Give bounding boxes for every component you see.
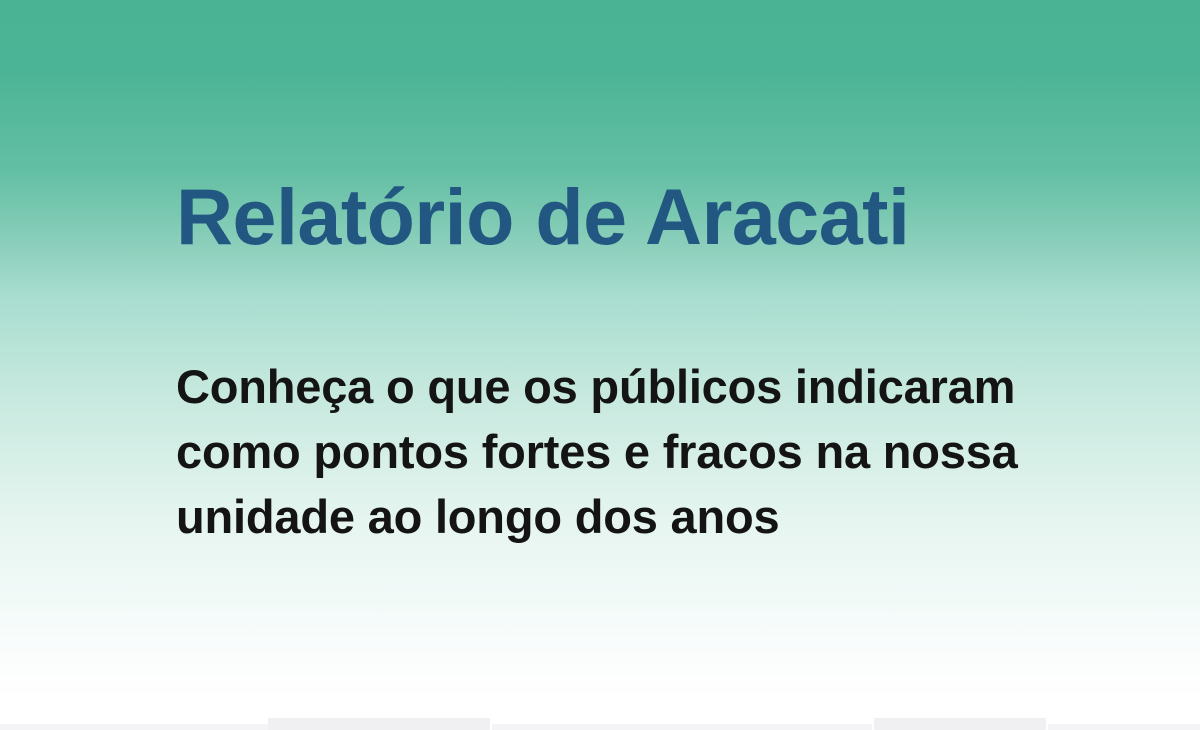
subtitle-line-1: Conheça o que os públicos indicaram bbox=[176, 354, 1076, 419]
report-title-slide: Relatório de Aracati Conheça o que os pú… bbox=[0, 0, 1200, 730]
subtitle-line-2: como pontos fortes e fracos na nossa bbox=[176, 419, 1076, 484]
subtitle-line-3: unidade ao longo dos anos bbox=[176, 484, 1076, 549]
page-title: Relatório de Aracati bbox=[176, 174, 909, 260]
slide-text-block: Relatório de Aracati Conheça o que os pú… bbox=[176, 0, 1096, 730]
page-subtitle: Conheça o que os públicos indicaram como… bbox=[176, 354, 1076, 549]
